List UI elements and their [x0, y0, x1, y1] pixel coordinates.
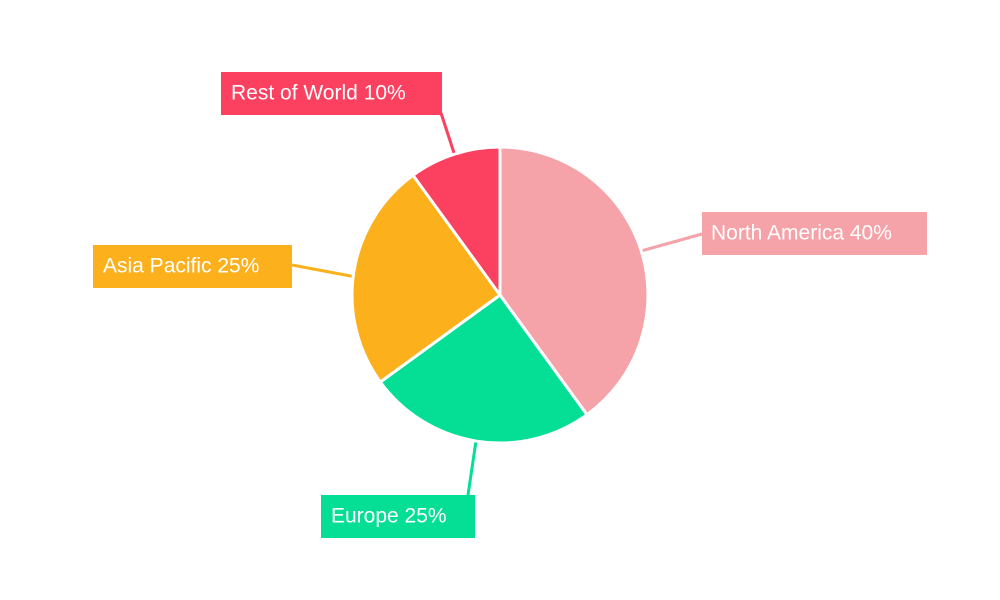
callout-label-europe: Europe 25% [331, 505, 447, 528]
callout-label-north-america: North America 40% [711, 222, 892, 245]
pie-chart-svg: North America 40%Europe 25%Asia Pacific … [0, 0, 1000, 600]
callout-label-rest-of-world: Rest of World 10% [231, 82, 406, 105]
pie-slice-group: North America 40%Europe 25%Asia Pacific … [352, 147, 648, 443]
pie-chart-figure: North America 40%Europe 25%Asia Pacific … [0, 0, 1000, 600]
callout-label-asia-pacific: Asia Pacific 25% [103, 255, 259, 278]
